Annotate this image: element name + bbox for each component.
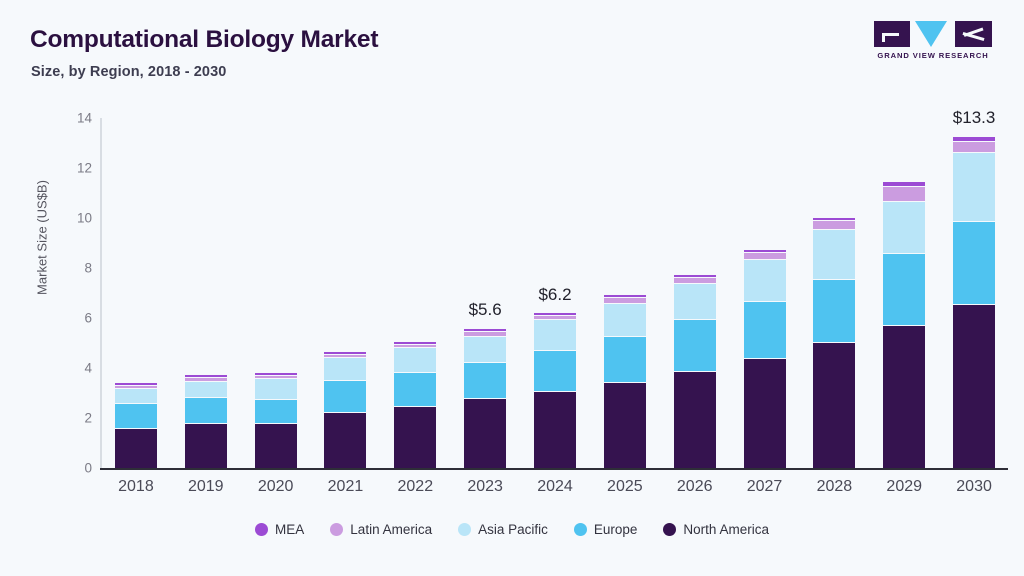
bar-segment[interactable] [953,153,995,221]
bar-segment[interactable] [604,298,646,303]
legend-label: Asia Pacific [478,522,548,537]
x-axis-tick-label: 2023 [467,478,503,496]
bar-segment[interactable] [185,398,227,423]
y-axis-tick-label: 6 [58,311,92,326]
bar-segment[interactable] [953,305,995,468]
bar-segment[interactable] [744,302,786,358]
bar-segment[interactable] [464,399,506,468]
bar-segment[interactable] [324,355,366,357]
bar-segment[interactable] [255,373,297,375]
bar-segment[interactable] [115,386,157,388]
x-axis-tick-label: 2021 [328,478,364,496]
legend-item[interactable]: Europe [574,522,638,537]
legend-item[interactable]: Asia Pacific [458,522,548,537]
bar-segment[interactable] [115,404,157,427]
y-axis-tick-label: 10 [58,211,92,226]
legend-color-swatch-icon [663,523,676,536]
x-axis-tick-label: 2029 [886,478,922,496]
bar-segment[interactable] [255,379,297,399]
bar-group[interactable] [744,118,786,468]
bar-segment[interactable] [534,313,576,315]
bar-segment[interactable] [534,392,576,468]
legend-color-swatch-icon [330,523,343,536]
bar-group[interactable]: $13.3 [953,118,995,468]
bar-segment[interactable] [255,400,297,423]
bar-segment[interactable] [883,254,925,325]
bar-segment[interactable] [185,378,227,381]
x-axis-tick-label: 2022 [398,478,434,496]
bar-segment[interactable] [534,320,576,350]
bar-value-label: $5.6 [469,300,502,320]
chart-legend: MEALatin AmericaAsia PacificEuropeNorth … [14,522,1010,537]
legend-color-swatch-icon [574,523,587,536]
bar-group[interactable] [674,118,716,468]
bar-segment[interactable] [464,363,506,398]
bar-group[interactable] [883,118,925,468]
bar-segment[interactable] [185,424,227,468]
legend-item[interactable]: Latin America [330,522,432,537]
legend-color-swatch-icon [255,523,268,536]
bar-segment[interactable] [813,230,855,279]
bar-segment[interactable] [604,304,646,335]
bar-segment[interactable] [394,342,436,344]
bar-segment[interactable] [604,295,646,297]
y-axis-tick-label: 0 [58,461,92,476]
bar-segment[interactable] [674,372,716,468]
bar-group[interactable] [813,118,855,468]
bar-segment[interactable] [394,373,436,406]
x-axis-tick-label: 2030 [956,478,992,496]
bar-segment[interactable] [744,253,786,259]
legend-item[interactable]: North America [663,522,769,537]
legend-color-swatch-icon [458,523,471,536]
bar-segment[interactable] [255,376,297,378]
legend-label: Europe [594,522,638,537]
bar-segment[interactable] [324,381,366,412]
chart-card: Computational Biology Market Size, by Re… [14,8,1010,568]
bar-segment[interactable] [185,375,227,377]
bar-segment[interactable] [464,332,506,336]
legend-item[interactable]: MEA [255,522,304,537]
y-axis-tick-label: 2 [58,411,92,426]
bar-segment[interactable] [115,383,157,385]
bar-segment[interactable] [324,413,366,468]
chart-plot-area: Market Size (US$B) 02468101214 $5.6$6.2$… [14,8,1010,568]
bar-value-label: $6.2 [538,285,571,305]
bar-segment[interactable] [394,345,436,347]
bar-segment[interactable] [185,382,227,397]
x-axis-tick-label: 2025 [607,478,643,496]
bar-segment[interactable] [953,222,995,305]
bar-segment[interactable] [744,260,786,300]
bar-group[interactable] [185,118,227,468]
bar-group[interactable] [604,118,646,468]
legend-label: North America [683,522,769,537]
y-axis-tick-label: 12 [58,161,92,176]
y-axis-tick-label: 14 [58,111,92,126]
y-axis-ticks: 02468101214 [44,8,92,568]
x-axis-tick-label: 2019 [188,478,224,496]
legend-label: MEA [275,522,304,537]
legend-label: Latin America [350,522,432,537]
bar-segment[interactable] [604,383,646,468]
bar-segment[interactable] [394,348,436,372]
bar-segment[interactable] [813,343,855,468]
x-axis-tick-label: 2020 [258,478,294,496]
bar-group[interactable] [394,118,436,468]
bar-segment[interactable] [883,187,925,201]
bar-segment[interactable] [674,278,716,283]
x-axis-tick-label: 2027 [747,478,783,496]
bar-segment[interactable] [674,275,716,277]
bar-segment[interactable] [883,326,925,468]
bar-value-label: $13.3 [953,108,996,128]
bar-segment[interactable] [674,284,716,319]
bar-segment[interactable] [813,218,855,220]
bar-segment[interactable] [744,250,786,252]
bar-segment[interactable] [883,182,925,186]
bar-segment[interactable] [534,351,576,391]
bar-series-container: $5.6$6.2$13.3 [100,118,1008,468]
bar-group[interactable]: $5.6 [464,118,506,468]
chart-screenshot: Computational Biology Market Size, by Re… [0,0,1024,576]
y-axis-tick-label: 4 [58,361,92,376]
bar-group[interactable]: $6.2 [534,118,576,468]
bar-segment[interactable] [674,320,716,370]
bar-group[interactable] [324,118,366,468]
y-axis-tick-label: 8 [58,261,92,276]
bar-segment[interactable] [534,316,576,319]
bar-segment[interactable] [604,337,646,382]
x-axis-tick-label: 2024 [537,478,573,496]
x-axis-tick-label: 2018 [118,478,154,496]
bar-segment[interactable] [324,352,366,354]
bar-segment[interactable] [115,429,157,468]
bar-segment[interactable] [883,202,925,253]
bar-group[interactable] [255,118,297,468]
x-axis-tick-label: 2028 [817,478,853,496]
x-axis-tick-label: 2026 [677,478,713,496]
bar-segment[interactable] [394,407,436,468]
bar-segment[interactable] [953,137,995,141]
bar-segment[interactable] [464,337,506,362]
bar-segment[interactable] [953,142,995,152]
bar-group[interactable] [115,118,157,468]
bar-segment[interactable] [813,221,855,229]
bar-segment[interactable] [324,358,366,380]
x-axis-line [100,468,1008,470]
bar-segment[interactable] [744,359,786,468]
bar-segment[interactable] [464,329,506,331]
bar-segment[interactable] [255,424,297,468]
bar-segment[interactable] [813,280,855,341]
bar-segment[interactable] [115,389,157,403]
